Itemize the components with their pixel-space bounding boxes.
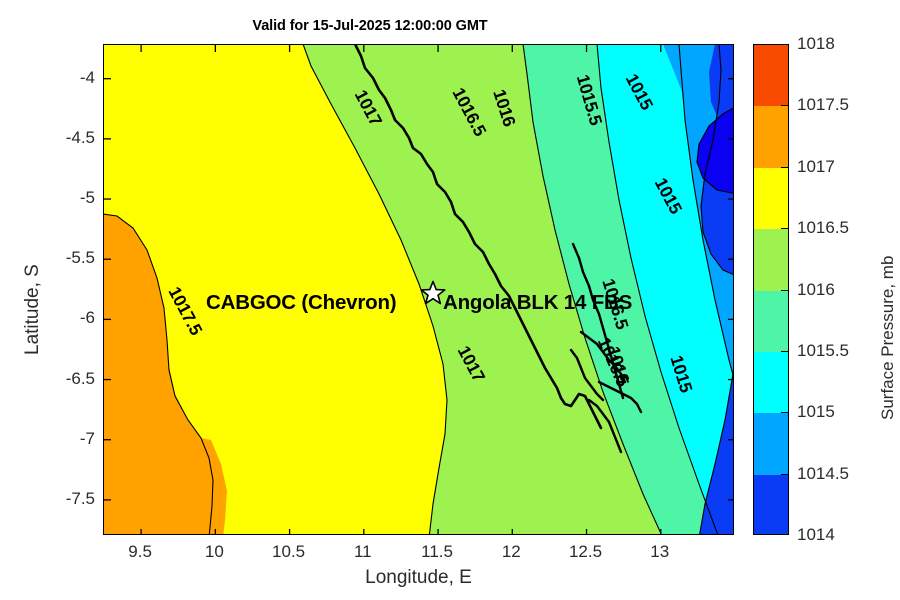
colorbar-tick-mark [781, 228, 788, 229]
x-tick-label: 13 [620, 542, 700, 562]
colorbar-band [754, 229, 788, 290]
x-tick-label: 12.5 [546, 542, 626, 562]
colorbar-tick-mark [781, 474, 788, 475]
colorbar-band [754, 45, 788, 106]
colorbar-tick-label: 1016.5 [797, 218, 849, 238]
colorbar-tick-mark [781, 167, 788, 168]
colorbar-tick-label: 1017.5 [797, 95, 849, 115]
y-tick-label: -4.5 [19, 128, 95, 148]
colorbar-tick-label: 1016 [797, 280, 835, 300]
y-tick-label: -4 [19, 68, 95, 88]
x-tick-label: 10 [174, 542, 254, 562]
colorbar-tick-label: 1017 [797, 157, 835, 177]
y-tick-label: -7.5 [19, 489, 95, 509]
y-tick-label: -7 [19, 429, 95, 449]
colorbar-tick-mark [781, 105, 788, 106]
colorbar-tick-mark [781, 412, 788, 413]
chart-title: Valid for 15-Jul-2025 12:00:00 GMT [0, 18, 740, 34]
colorbar-tick-label: 1014 [797, 525, 835, 545]
y-tick-label: -5 [19, 188, 95, 208]
colorbar-tick-mark [781, 290, 788, 291]
colorbar-title: Surface Pressure, mb [878, 256, 898, 420]
colorbar-tick-label: 1015 [797, 402, 835, 422]
site-label-left: CABGOC (Chevron) [206, 291, 396, 315]
colorbar-tick-label: 1014.5 [797, 464, 849, 484]
colorbar-band [754, 106, 788, 167]
colorbar-tick-label: 1018 [797, 34, 835, 54]
x-tick-label: 10.5 [249, 542, 329, 562]
colorbar-tick-mark [781, 351, 788, 352]
colorbar-band [754, 291, 788, 352]
colorbar-band [754, 413, 788, 474]
colorbar-band [754, 168, 788, 229]
x-tick-label: 11 [323, 542, 403, 562]
x-tick-label: 9.5 [100, 542, 180, 562]
contour-surface [103, 44, 734, 535]
colorbar-band [754, 475, 788, 535]
y-tick-label: -6.5 [19, 369, 95, 389]
colorbar-tick-label: 1015.5 [797, 341, 849, 361]
x-tick-label: 11.5 [397, 542, 477, 562]
x-axis-title: Longitude, E [103, 567, 734, 589]
y-axis-title: Latitude, S [22, 264, 44, 355]
x-tick-label: 12 [471, 542, 551, 562]
contour-plot[interactable] [103, 44, 734, 535]
colorbar-band [754, 352, 788, 413]
